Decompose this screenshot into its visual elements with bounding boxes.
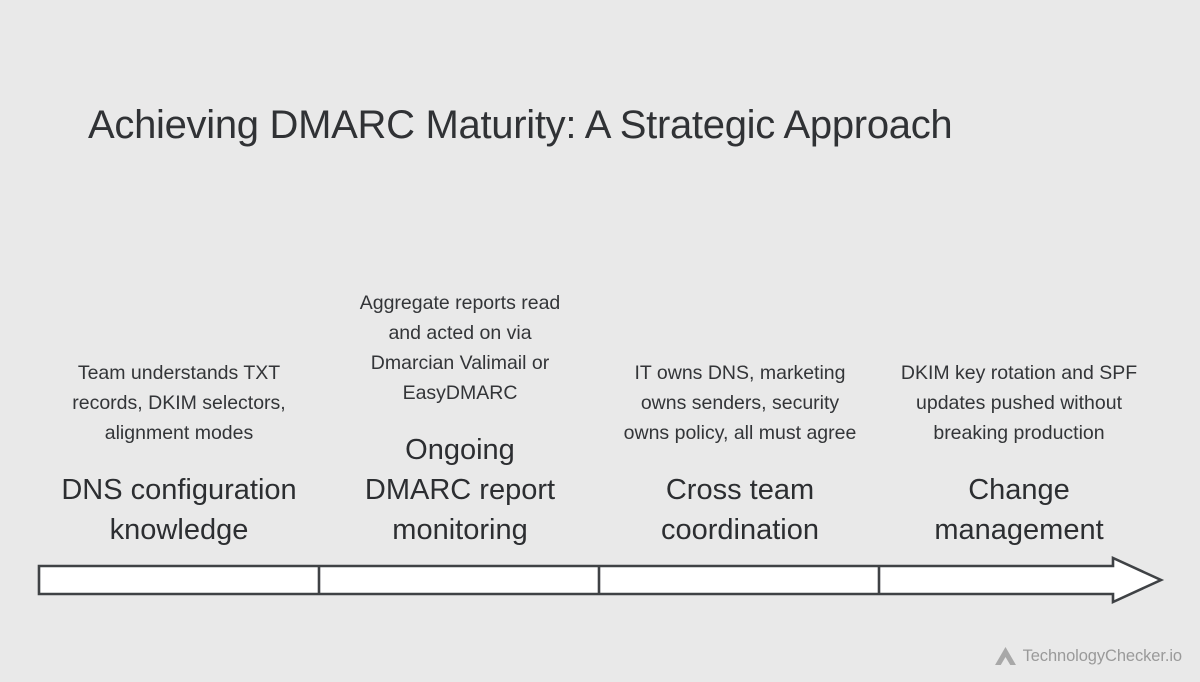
brand-name: TechnologyChecker.io (1023, 647, 1182, 666)
stage-description: IT owns DNS, marketing owns senders, sec… (622, 358, 858, 448)
stage-description: Aggregate reports read and acted on via … (348, 288, 572, 408)
stage-heading: Ongoing DMARC report monitoring (348, 430, 572, 550)
stage-columns: Team understands TXT records, DKIM selec… (38, 190, 1158, 550)
stage-heading: Cross team coordination (622, 470, 858, 550)
stage-column-2: Aggregate reports read and acted on via … (320, 190, 600, 550)
arrow-graphic (38, 565, 1162, 595)
triangle-logo-icon (995, 647, 1016, 666)
stage-description: Team understands TXT records, DKIM selec… (42, 358, 316, 448)
maturity-progression-arrow (38, 565, 1162, 595)
infographic-canvas: Achieving DMARC Maturity: A Strategic Ap… (0, 0, 1200, 682)
stage-column-1: Team understands TXT records, DKIM selec… (38, 190, 320, 550)
stage-description: DKIM key rotation and SPF updates pushed… (892, 358, 1146, 448)
page-title: Achieving DMARC Maturity: A Strategic Ap… (88, 103, 952, 148)
footer-branding: TechnologyChecker.io (995, 647, 1182, 666)
stage-heading: Change management (892, 470, 1146, 550)
stage-column-3: IT owns DNS, marketing owns senders, sec… (600, 190, 880, 550)
stage-column-4: DKIM key rotation and SPF updates pushed… (880, 190, 1158, 550)
stage-heading: DNS configuration knowledge (42, 470, 316, 550)
